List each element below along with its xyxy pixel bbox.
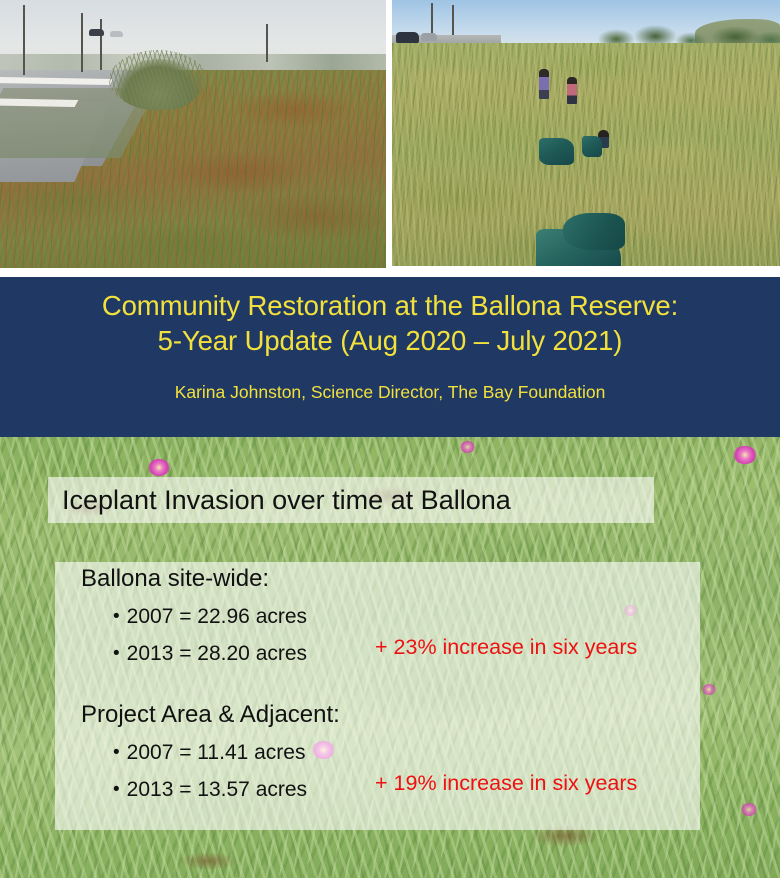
parked-vehicle [396,32,419,43]
bullet-list: • 2007 = 22.96 acres • 2013 = 28.20 acre… [113,598,307,672]
bullet-marker-icon: • [113,743,120,762]
green-tarp-bag [563,213,625,250]
bullet-marker-icon: • [113,607,120,626]
iceplant-flower [733,446,757,464]
utility-pole [431,3,433,38]
distant-car [110,31,123,37]
list-item: • 2007 = 22.96 acres [113,598,307,635]
utility-pole [23,5,25,75]
list-item-label: 2013 = 13.57 acres [127,778,307,802]
iceplant-flower [702,684,716,695]
bullet-list: • 2007 = 11.41 acres • 2013 = 13.57 acre… [113,734,307,808]
bare-soil-patch [179,852,237,870]
increase-note: + 19% increase in six years [375,771,637,796]
iceplant-flower [741,803,757,816]
utility-pole [452,5,454,34]
group-heading: Project Area & Adjacent: [81,698,340,732]
parked-vehicle [421,33,437,41]
green-tarp-bag [582,136,601,157]
volunteer-person [567,77,577,104]
presenter-credit: Karina Johnston, Science Director, The B… [175,381,606,403]
group-heading: Ballona site-wide: [81,562,269,596]
roadside-iceplant-photo [0,0,386,268]
utility-pole [266,24,268,62]
list-item-label: 2007 = 22.96 acres [127,605,307,629]
bullet-marker-icon: • [113,644,120,663]
tree-line [594,16,780,45]
volunteer-person [539,69,549,99]
list-item: • 2013 = 13.57 acres [113,771,307,808]
list-item-label: 2013 = 28.20 acres [127,642,307,666]
bullet-marker-icon: • [113,780,120,799]
photo-strip [0,0,780,272]
increase-note: + 23% increase in six years [375,635,637,660]
slide-title-line-1: Community Restoration at the Ballona Res… [102,288,678,323]
lane-marking-edge [0,98,79,107]
list-item-label: 2007 = 11.41 acres [127,741,306,765]
distant-car [89,29,104,36]
content-groups: Ballona site-wide: • 2007 = 22.96 acres … [55,562,700,830]
title-banner: Community Restoration at the Ballona Res… [0,277,780,437]
green-tarp-bag [539,138,574,165]
utility-pole [100,19,102,70]
list-item: • 2007 = 11.41 acres [113,734,307,771]
section-heading: Iceplant Invasion over time at Ballona [62,480,511,520]
utility-pole [81,13,83,72]
roadside-shrub [116,59,201,110]
slide-title-line-2: 5-Year Update (Aug 2020 – July 2021) [158,323,623,358]
list-item: • 2013 = 28.20 acres [113,635,307,672]
presentation-slide: Community Restoration at the Ballona Res… [0,0,780,878]
volunteer-removal-photo [392,0,780,266]
